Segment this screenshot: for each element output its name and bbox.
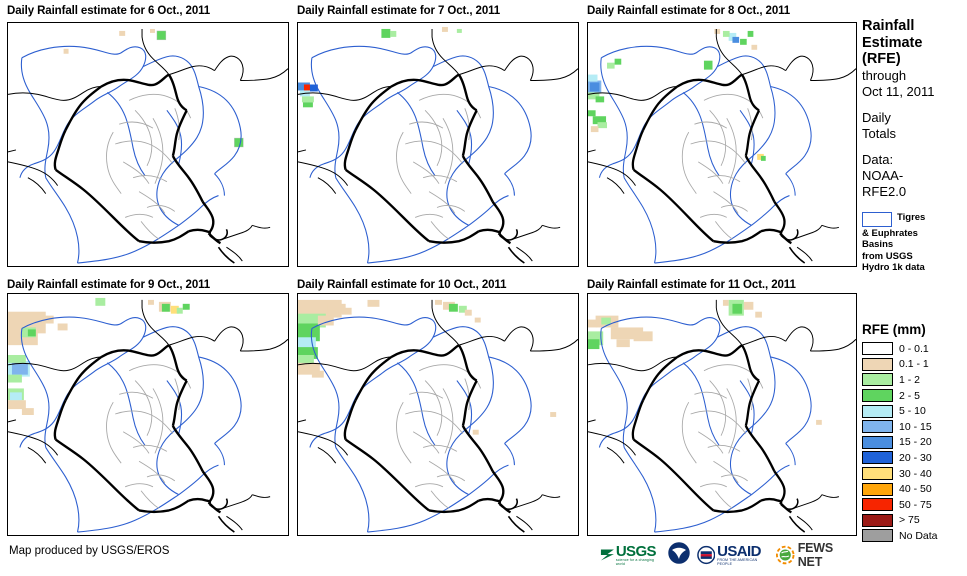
rainfall-map-oct-9 [8,294,288,535]
legend-title-line3: (RFE) [862,51,967,68]
legend-data-line2: NOAA- [862,168,967,184]
basin-swatch [862,212,892,227]
logo-bar: USGS science for a changing world USAID … [600,539,856,571]
noaa-seal-icon [668,542,690,564]
map-frame[interactable] [297,22,579,267]
map-frame[interactable] [297,293,579,536]
basin-label-line4: from USGS [862,251,967,263]
map-credit: Map produced by USGS/EROS [9,545,169,557]
usgs-logo[interactable]: USGS science for a changing world [600,544,661,566]
fewsnet-logo[interactable]: FEWS NET [776,541,856,569]
rfe-legend-row: 50 - 75 [862,497,967,513]
legend-totals-line1: Daily [862,110,967,126]
usaid-logo[interactable]: USAID FROM THE AMERICAN PEOPLE [697,544,770,566]
rfe-class-label: 2 - 5 [899,390,920,402]
rfe-legend-row: 0 - 0.1 [862,341,967,357]
legend-data-line1: Data: [862,152,967,168]
rfe-class-label: > 75 [899,514,920,526]
rfe-legend-row: 20 - 30 [862,450,967,466]
legend-title-line2: Estimate [862,35,967,52]
rfe-class-label: 0 - 0.1 [899,343,929,355]
legend-totals-line2: Totals [862,126,967,142]
rfe-legend-row: 0.1 - 1 [862,357,967,373]
rfe-legend-row: 10 - 15 [862,419,967,435]
rfe-color-swatch [862,420,893,433]
legend-title-line1: Rainfall [862,18,967,35]
rfe-color-swatch [862,373,893,386]
panel-title: Daily Rainfall estimate for 8 Oct., 2011 [587,4,857,18]
panel-title: Daily Rainfall estimate for 11 Oct., 201… [587,278,857,292]
panel-oct-10: Daily Rainfall estimate for 10 Oct., 201… [297,278,579,538]
panel-title: Daily Rainfall estimate for 10 Oct., 201… [297,278,579,292]
usgs-mark-icon [600,546,615,564]
rfe-class-label: 1 - 2 [899,374,920,386]
rainfall-map-oct-7 [298,23,578,266]
map-frame[interactable] [587,22,857,267]
rfe-color-swatch [862,451,893,464]
fewsnet-wordmark: FEWS NET [798,541,856,569]
panel-title: Daily Rainfall estimate for 6 Oct., 2011 [7,4,289,18]
rfe-legend: RFE (mm) 0 - 0.10.1 - 11 - 22 - 55 - 101… [862,322,967,544]
rfe-class-label: 10 - 15 [899,421,932,433]
rfe-legend-row: 2 - 5 [862,388,967,404]
legend-through-date: Oct 11, 2011 [862,84,967,100]
rfe-class-label: 5 - 10 [899,405,926,417]
panel-title: Daily Rainfall estimate for 9 Oct., 2011 [7,278,289,292]
basin-label-line2: & Euphrates [862,228,967,240]
rfe-legend-row: 1 - 2 [862,372,967,388]
fewsnet-globe-icon [776,545,795,565]
rfe-class-label: 20 - 30 [899,452,932,464]
rfe-color-swatch [862,529,893,542]
rfe-legend-row: 30 - 40 [862,466,967,482]
rfe-legend-row: 5 - 10 [862,403,967,419]
rfe-class-label: No Data [899,530,938,542]
usgs-tagline: science for a changing world [616,559,661,566]
rfe-color-swatch [862,358,893,371]
noaa-logo[interactable] [668,542,690,569]
basin-label-first: Tigres [897,212,925,224]
usaid-seal-icon [697,545,716,565]
map-frame[interactable] [7,293,289,536]
panel-title: Daily Rainfall estimate for 7 Oct., 2011 [297,4,579,18]
legend-through: through [862,68,967,84]
rfe-color-swatch [862,436,893,449]
rfe-class-label: 50 - 75 [899,499,932,511]
panel-oct-11: Daily Rainfall estimate for 11 Oct., 201… [587,278,857,538]
legend-data-line3: RFE2.0 [862,184,967,200]
rfe-class-label: 30 - 40 [899,468,932,480]
rfe-color-swatch [862,498,893,511]
panel-oct-8: Daily Rainfall estimate for 8 Oct., 2011 [587,4,857,268]
panel-oct-6: Daily Rainfall estimate for 6 Oct., 2011 [7,4,289,268]
rfe-legend-heading: RFE (mm) [862,322,967,337]
rfe-class-label: 40 - 50 [899,483,932,495]
rfe-color-swatch [862,342,893,355]
panel-oct-7: Daily Rainfall estimate for 7 Oct., 2011 [297,4,579,268]
usaid-wordmark: USAID [717,544,769,559]
basin-label-line3: Basins [862,239,967,251]
panel-oct-9: Daily Rainfall estimate for 9 Oct., 2011 [7,278,289,538]
map-frame[interactable] [587,293,857,536]
rainfall-map-oct-8 [588,23,856,266]
basin-label-line5: Hydro 1k data [862,262,967,274]
rfe-class-label: 0.1 - 1 [899,358,929,370]
map-frame[interactable] [7,22,289,267]
rfe-class-label: 15 - 20 [899,436,932,448]
rfe-color-swatch [862,389,893,402]
rfe-color-swatch [862,483,893,496]
rfe-color-swatch [862,514,893,527]
usgs-wordmark: USGS [616,544,661,559]
rainfall-map-oct-10 [298,294,578,535]
rfe-legend-row: > 75 [862,513,967,529]
rfe-legend-row: 40 - 50 [862,481,967,497]
rfe-legend-row: No Data [862,528,967,544]
usaid-tagline: FROM THE AMERICAN PEOPLE [717,559,769,566]
rfe-color-swatch [862,405,893,418]
rfe-color-swatch [862,467,893,480]
rainfall-map-oct-11 [588,294,856,535]
basin-legend-entry: Tigres [862,212,967,227]
rainfall-map-oct-6 [8,23,288,266]
rfe-legend-row: 15 - 20 [862,435,967,451]
